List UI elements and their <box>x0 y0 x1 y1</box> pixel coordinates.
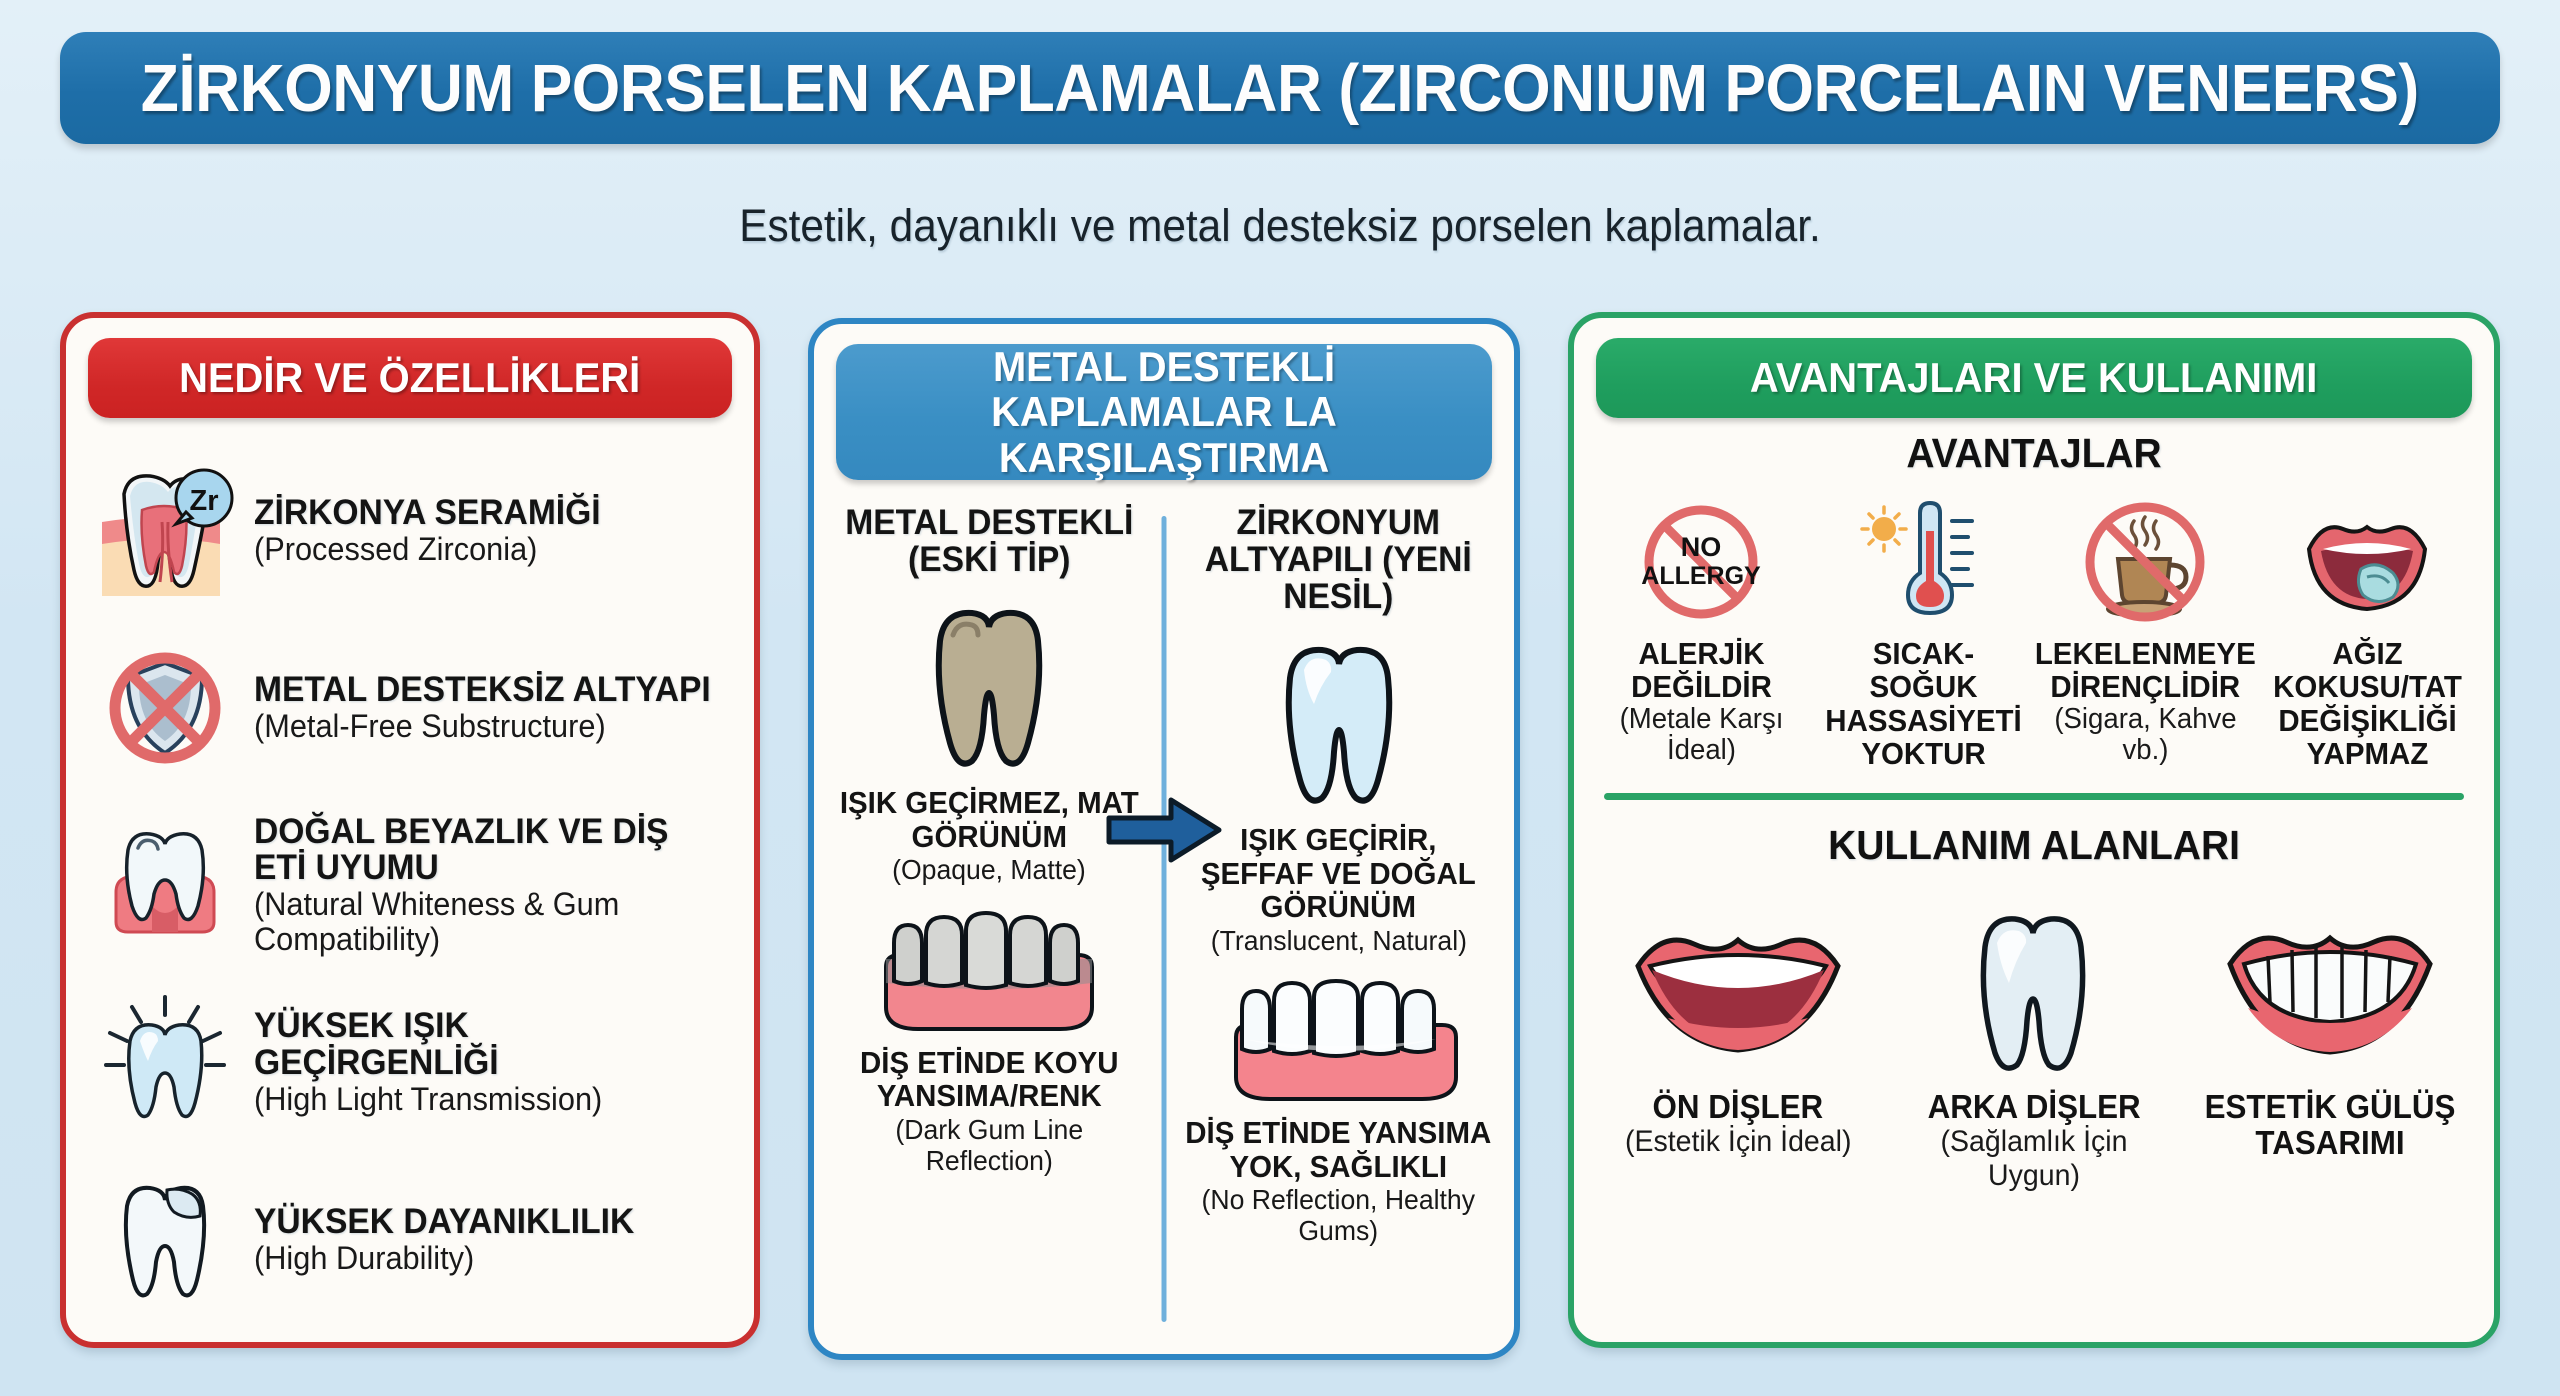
usage-item: ÖN DİŞLER (Estetik İçin İdeal) <box>1603 895 1873 1159</box>
comparison-card-header: METAL DESTEKLİ KAPLAMALAR LA KARŞILAŞTIR… <box>836 344 1492 480</box>
usage-subtitle: (Sağlamlık İçin Uygun) <box>1906 1125 2163 1193</box>
translucent-tooth-icon <box>1266 633 1412 811</box>
open-smile-lips-icon <box>1628 895 1848 1083</box>
feature-item: DOĞAL BEYAZLIK VE DİŞ ETİ UYUMU (Natural… <box>94 814 736 957</box>
features-card: NEDİR VE ÖZELLİKLERİ Zr ZİRKONYA SERA <box>60 312 760 1348</box>
advantage-subtitle: (Metale Karşı İdeal) <box>1599 704 1803 767</box>
no-metal-shield-icon <box>94 637 236 779</box>
feature-item: METAL DESTEKSİZ ALTYAPI (Metal-Free Subs… <box>94 637 736 779</box>
no-allergy-icon: NO ALLERGY <box>1638 497 1764 627</box>
advantages-section-title: AVANTAJLAR <box>1612 430 2456 477</box>
advantages-card-heading: AVANTAJLARI VE KULLANIMI <box>1750 355 2317 400</box>
comparison-right-caption-sub: (Translucent, Natural) <box>1211 926 1467 957</box>
advantages-card-header: AVANTAJLARI VE KULLANIMI <box>1596 338 2472 418</box>
molar-tooth-icon <box>1969 895 2099 1083</box>
advantages-grid: NO ALLERGY ALERJİK DEĞİLDİR (Metale Karş… <box>1590 497 2478 771</box>
comparison-divider <box>1162 516 1167 1322</box>
no-allergy-badge-line2: ALLERGY <box>1641 562 1761 590</box>
comparison-left-caption-sub: (Opaque, Matte) <box>892 855 1086 886</box>
comparison-column-zirconium: ZİRKONYUM ALTYAPILI (YENİ NESİL) IŞIK GE… <box>1177 494 1500 1344</box>
feature-title: YÜKSEK DAYANIKLILIK <box>254 1204 717 1241</box>
usage-item: ARKA DİŞLER (Sağlamlık İçin Uygun) <box>1899 895 2169 1193</box>
advantages-card: AVANTAJLARI VE KULLANIMI AVANTAJLAR NO A… <box>1568 312 2500 1348</box>
feature-subtitle: (High Light Transmission) <box>254 1082 717 1117</box>
usage-subtitle: (Estetik İçin İdeal) <box>1625 1125 1852 1159</box>
advantage-title: ALERJİK DEĞİLDİR <box>1599 637 1803 704</box>
tooth-zirconia-zr-icon: Zr <box>94 460 236 602</box>
page-title-banner: ZİRKONYUM PORSELEN KAPLAMALAR (ZIRCONIUM… <box>60 32 2500 144</box>
usage-title: ESTETİK GÜLÜŞ TASARIMI <box>2202 1089 2459 1160</box>
page-title: ZİRKONYUM PORSELEN KAPLAMALAR (ZIRCONIUM… <box>141 50 2419 127</box>
right-arrow-icon <box>1105 794 1223 866</box>
advantage-item: LEKELENMEYE DİRENÇLİDİR (Sigara, Kahve v… <box>2038 497 2253 767</box>
feature-title: YÜKSEK IŞIK GEÇİRGENLİĞİ <box>254 1008 717 1082</box>
healthy-gum-bridge-icon <box>1214 984 1464 1104</box>
usage-section-title: KULLANIM ALANLARI <box>1612 822 2456 869</box>
smile-design-teeth-icon <box>2220 895 2440 1083</box>
features-card-heading: NEDİR VE ÖZELLİKLERİ <box>179 355 640 400</box>
mouth-tongue-icon <box>2301 497 2433 627</box>
features-list: Zr ZİRKONYA SERAMİĞİ (Processed Zirconia… <box>94 442 736 1328</box>
thermometer-sun-icon <box>1860 497 1986 627</box>
comparison-left-bridge-caption: DİŞ ETİNDE KOYU YANSIMA/RENK <box>836 1046 1142 1113</box>
strong-tooth-icon <box>94 1168 236 1310</box>
feature-item: YÜKSEK DAYANIKLILIK (High Durability) <box>94 1168 736 1310</box>
feature-item: Zr ZİRKONYA SERAMİĞİ (Processed Zirconia… <box>94 460 736 602</box>
advantage-subtitle: (Sigara, Kahve vb.) <box>2043 704 2247 767</box>
comparison-column-metal: METAL DESTEKLİ (ESKİ TİP) IŞIK GEÇİRMEZ,… <box>828 494 1151 1344</box>
advantage-item: SICAK-SOĞUK HASSASİYETİ YOKTUR <box>1816 497 2031 771</box>
advantages-usage-divider <box>1604 793 2464 800</box>
comparison-card-heading: METAL DESTEKLİ KAPLAMALAR LA KARŞILAŞTIR… <box>852 344 1475 480</box>
feature-title: DOĞAL BEYAZLIK VE DİŞ ETİ UYUMU <box>254 814 717 888</box>
advantage-item: NO ALLERGY ALERJİK DEĞİLDİR (Metale Karş… <box>1594 497 1809 767</box>
usage-item: ESTETİK GÜLÜŞ TASARIMI <box>2195 895 2465 1160</box>
comparison-left-bridge-caption-sub: (Dark Gum Line Reflection) <box>836 1115 1142 1177</box>
dark-gumline-bridge-icon <box>864 914 1114 1034</box>
comparison-left-caption: IŞIK GEÇİRMEZ, MAT GÖRÜNÜM <box>836 786 1142 853</box>
advantages-body: AVANTAJLAR NO ALLERGY ALERJİK DEĞİLDİR (… <box>1590 430 2478 1332</box>
feature-title: METAL DESTEKSİZ ALTYAPI <box>254 672 717 709</box>
feature-subtitle: (Processed Zirconia) <box>254 532 717 567</box>
opaque-tooth-icon <box>916 596 1062 774</box>
svg-text:Zr: Zr <box>190 485 219 517</box>
shining-tooth-icon <box>94 991 236 1133</box>
comparison-body: METAL DESTEKLİ (ESKİ TİP) IŞIK GEÇİRMEZ,… <box>828 494 1500 1344</box>
usage-grid: ÖN DİŞLER (Estetik İçin İdeal) ARKA DİŞL… <box>1590 895 2478 1193</box>
comparison-right-caption: IŞIK GEÇİRİR, ŞEFFAF VE DOĞAL GÖRÜNÜM <box>1186 823 1492 923</box>
tooth-gum-icon <box>94 814 236 956</box>
comparison-right-bridge-caption: DİŞ ETİNDE YANSIMA YOK, SAĞLIKLI <box>1186 1116 1492 1183</box>
feature-subtitle: (Natural Whiteness & Gum Compatibility) <box>254 887 717 956</box>
feature-item: YÜKSEK IŞIK GEÇİRGENLİĞİ (High Light Tra… <box>94 991 736 1133</box>
features-card-header: NEDİR VE ÖZELLİKLERİ <box>88 338 732 418</box>
comparison-card: METAL DESTEKLİ KAPLAMALAR LA KARŞILAŞTIR… <box>808 318 1520 1360</box>
advantage-item: AĞIZ KOKUSU/TAT DEĞİŞİKLİĞİ YAPMAZ <box>2260 497 2475 771</box>
comparison-right-bridge-caption-sub: (No Reflection, Healthy Gums) <box>1186 1185 1492 1247</box>
advantage-title: SICAK-SOĞUK HASSASİYETİ YOKTUR <box>1821 637 2025 771</box>
comparison-left-heading: METAL DESTEKLİ (ESKİ TİP) <box>834 504 1144 578</box>
usage-title: ARKA DİŞLER <box>1927 1089 2140 1125</box>
advantage-title: AĞIZ KOKUSU/TAT DEĞİŞİKLİĞİ YAPMAZ <box>2265 637 2469 771</box>
feature-subtitle: (High Durability) <box>254 1241 717 1276</box>
no-allergy-badge-line1: NO <box>1681 532 1722 562</box>
advantage-title: LEKELENMEYE DİRENÇLİDİR <box>2035 637 2256 704</box>
comparison-right-heading: ZİRKONYUM ALTYAPILI (YENİ NESİL) <box>1184 504 1494 615</box>
page-subtitle: Estetik, dayanıklı ve metal desteksiz po… <box>77 200 2483 252</box>
no-coffee-stain-icon <box>2082 497 2208 627</box>
feature-title: ZİRKONYA SERAMİĞİ <box>254 495 717 532</box>
feature-subtitle: (Metal-Free Substructure) <box>254 709 717 744</box>
usage-title: ÖN DİŞLER <box>1653 1089 1824 1125</box>
